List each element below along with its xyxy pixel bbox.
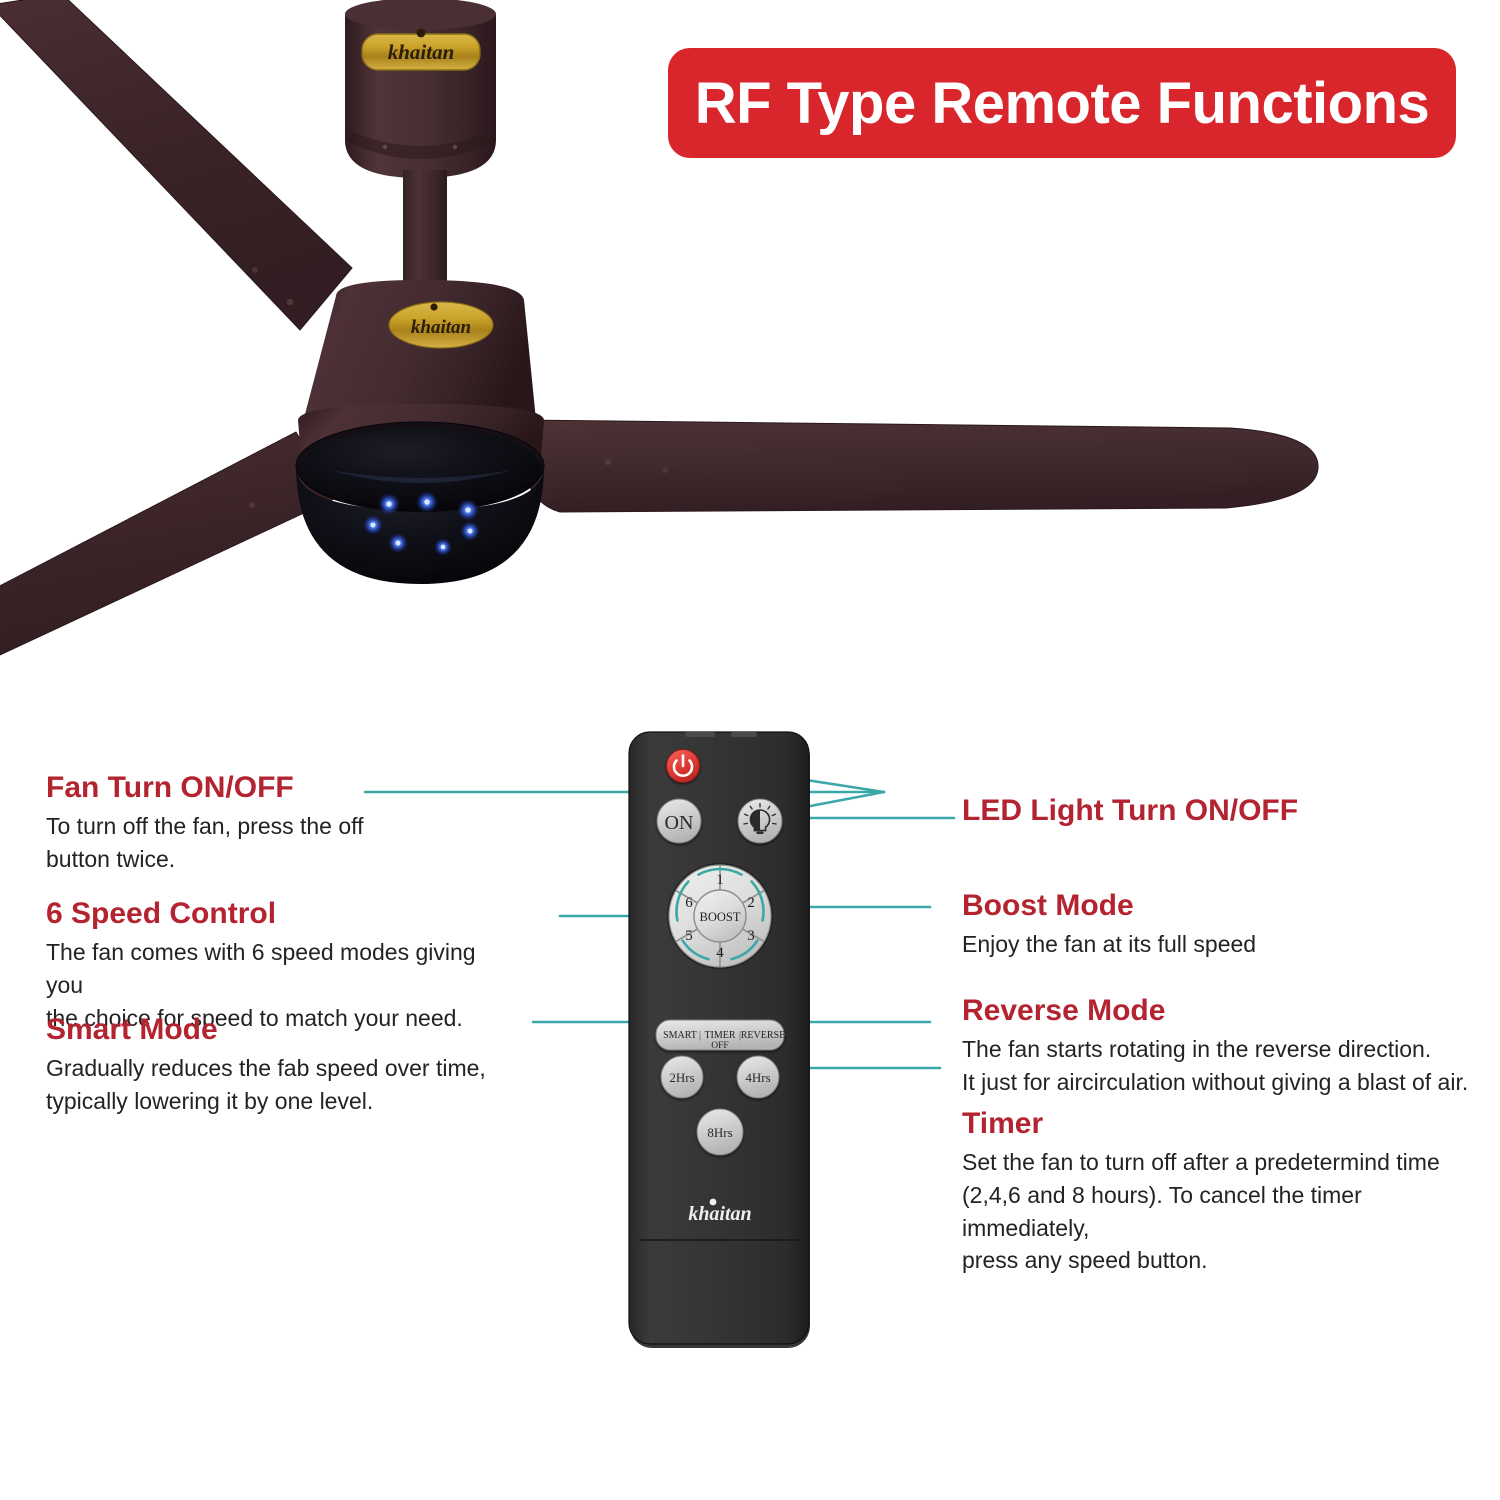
callout-line: Gradually reduces the fab speed over tim…: [46, 1052, 506, 1085]
callout-body-reverse-mode: The fan starts rotating in the reverse d…: [962, 1033, 1482, 1098]
callout-line: button twice.: [46, 843, 476, 876]
boost-button-label: BOOST: [700, 910, 741, 924]
speed-dial[interactable]: 1 2 3 4 5 6 BOOST: [667, 863, 773, 969]
mode-bar[interactable]: SMART | TIMER OFF | REVERSE: [656, 1020, 785, 1051]
fan-led-dome: [296, 422, 544, 584]
callout-heading-timer: Timer: [962, 1108, 1482, 1140]
callout-body-smart-mode: Gradually reduces the fab speed over tim…: [46, 1052, 506, 1117]
remote-brand-text: khaitan: [688, 1203, 751, 1225]
mode-bar-separator-1: |: [699, 1029, 701, 1041]
callout-heading-reverse-mode: Reverse Mode: [962, 995, 1482, 1027]
callout-line: The fan starts rotating in the reverse d…: [962, 1033, 1482, 1066]
callout-fan-turn-onoff: Fan Turn ON/OFF To turn off the fan, pre…: [46, 772, 476, 876]
timer-button-4hrs-label: 4Hrs: [745, 1070, 770, 1085]
fan-blade-right: [520, 420, 1318, 512]
speed-number-5[interactable]: 5: [685, 928, 693, 944]
speed-number-6[interactable]: 6: [685, 895, 693, 911]
timer-mode-button-label[interactable]: TIMER: [704, 1030, 735, 1041]
callout-heading-fan-onoff: Fan Turn ON/OFF: [46, 772, 476, 804]
callout-line: The fan comes with 6 speed modes giving …: [46, 936, 516, 1001]
callout-body-timer: Set the fan to turn off after a predeter…: [962, 1146, 1482, 1277]
fan-blade-upper-left: [0, 0, 352, 330]
canopy-brand-text: khaitan: [388, 40, 455, 64]
speed-number-3[interactable]: 3: [747, 928, 755, 944]
timer-button-8hrs[interactable]: 8Hrs: [697, 1109, 743, 1155]
callout-led-light: LED Light Turn ON/OFF: [962, 795, 1422, 833]
ir-emitter-notch: [731, 732, 757, 737]
reverse-mode-button-label[interactable]: REVERSE: [741, 1030, 785, 1041]
canopy-brand-badge: khaitan: [362, 29, 480, 70]
timer-button-2hrs[interactable]: 2Hrs: [661, 1056, 703, 1098]
boost-button[interactable]: BOOST: [694, 890, 746, 942]
remote-brand-logo: khaitan: [688, 1199, 751, 1225]
fan-blade-lower-left: [0, 432, 336, 655]
callout-line: Enjoy the fan at its full speed: [962, 928, 1422, 961]
fan-canopy: khaitan: [345, 0, 496, 178]
callout-line: typically lowering it by one level.: [46, 1085, 506, 1118]
on-button-label: ON: [665, 812, 694, 834]
callout-line: Set the fan to turn off after a predeter…: [962, 1146, 1482, 1179]
callout-line: (2,4,6 and 8 hours). To cancel the timer…: [962, 1179, 1482, 1244]
brand-flower-icon: [710, 1199, 717, 1206]
callout-body-fan-onoff: To turn off the fan, press the off butto…: [46, 810, 476, 875]
timer-button-4hrs[interactable]: 4Hrs: [737, 1056, 779, 1098]
smart-mode-button-label[interactable]: SMART: [663, 1030, 697, 1041]
callout-body-boost-mode: Enjoy the fan at its full speed: [962, 928, 1422, 961]
timer-off-sublabel[interactable]: OFF: [711, 1041, 728, 1051]
rf-remote-control: ON: [627, 730, 813, 1352]
callout-line: To turn off the fan, press the off: [46, 810, 476, 843]
callout-heading-boost-mode: Boost Mode: [962, 890, 1422, 922]
motor-brand-text: khaitan: [411, 317, 471, 338]
callout-smart-mode: Smart Mode Gradually reduces the fab spe…: [46, 1014, 506, 1118]
callout-heading-smart-mode: Smart Mode: [46, 1014, 506, 1046]
callout-timer: Timer Set the fan to turn off after a pr…: [962, 1108, 1482, 1277]
on-button[interactable]: ON: [657, 799, 701, 843]
power-button[interactable]: [667, 750, 700, 783]
speed-number-4[interactable]: 4: [716, 945, 724, 961]
timer-button-8hrs-label: 8Hrs: [707, 1125, 732, 1140]
callout-heading-led-light: LED Light Turn ON/OFF: [962, 795, 1422, 827]
callout-reverse-mode: Reverse Mode The fan starts rotating in …: [962, 995, 1482, 1099]
callout-boost-mode: Boost Mode Enjoy the fan at its full spe…: [962, 890, 1422, 961]
callout-line: It just for aircirculation without givin…: [962, 1066, 1482, 1099]
callout-heading-speed-control: 6 Speed Control: [46, 898, 516, 930]
ir-emitter-notch: [685, 732, 715, 737]
ceiling-fan-illustration: khaitan khaitan: [0, 0, 1400, 700]
callout-line: press any speed button.: [962, 1244, 1482, 1277]
motor-brand-badge: khaitan: [389, 302, 493, 348]
speed-number-2[interactable]: 2: [747, 895, 755, 911]
led-light-button[interactable]: [738, 799, 782, 843]
timer-button-2hrs-label: 2Hrs: [669, 1070, 694, 1085]
speed-number-1[interactable]: 1: [716, 872, 724, 888]
